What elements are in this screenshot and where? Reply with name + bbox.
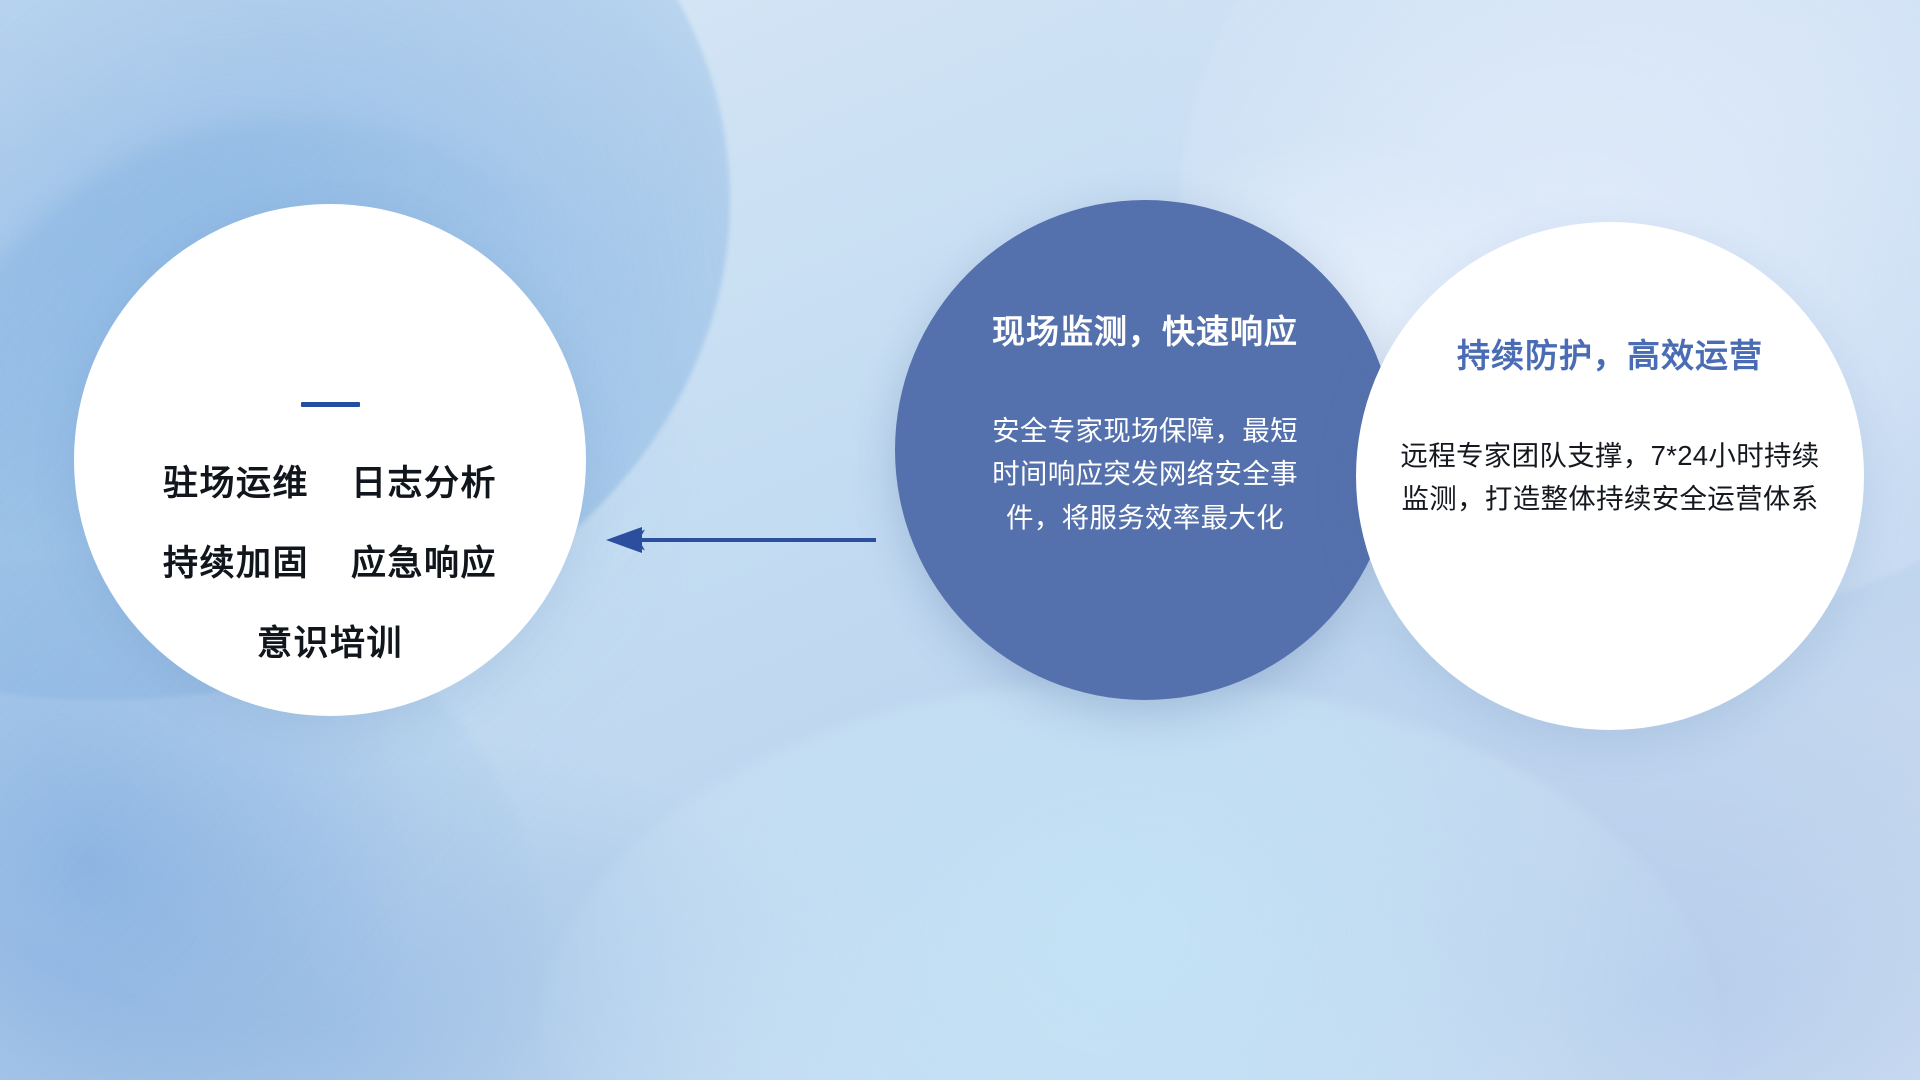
keyword-row: 驻场运维 日志分析 bbox=[163, 455, 497, 506]
keywords-circle-content: 驻场运维 日志分析 持续加固 应急响应 意识培训 bbox=[74, 204, 586, 716]
continuous-protection-body: 远程专家团队支撑，7*24小时持续监测，打造整体持续安全运营体系 bbox=[1400, 434, 1820, 521]
short-rule-icon bbox=[301, 402, 360, 407]
keyword-item: 持续加固 bbox=[163, 535, 309, 586]
keyword-list: 驻场运维 日志分析 持续加固 应急响应 意识培训 bbox=[163, 455, 497, 666]
continuous-protection-title: 持续防护，高效运营 bbox=[1457, 329, 1763, 377]
onsite-monitoring-content: 现场监测，快速响应 安全专家现场保障，最短时间响应突发网络安全事件，将服务效率最… bbox=[895, 200, 1395, 700]
continuous-protection-content: 持续防护，高效运营 远程专家团队支撑，7*24小时持续监测，打造整体持续安全运营… bbox=[1356, 222, 1864, 730]
flow-arrow-left-icon bbox=[598, 512, 878, 568]
onsite-monitoring-title: 现场监测，快速响应 bbox=[992, 305, 1298, 353]
keyword-row: 意识培训 bbox=[257, 615, 403, 666]
keyword-row: 持续加固 应急响应 bbox=[163, 535, 497, 586]
keyword-item: 驻场运维 bbox=[163, 455, 309, 506]
slide-canvas: 驻场运维 日志分析 持续加固 应急响应 意识培训 现场监测，快速响应 安全专家现… bbox=[0, 0, 1920, 1080]
keywords-circle: 驻场运维 日志分析 持续加固 应急响应 意识培训 bbox=[74, 204, 586, 716]
background-blob-bottom bbox=[540, 680, 1720, 1080]
onsite-monitoring-body: 安全专家现场保障，最短时间响应突发网络安全事件，将服务效率最大化 bbox=[986, 409, 1304, 539]
keyword-item: 日志分析 bbox=[351, 455, 497, 506]
keyword-item: 应急响应 bbox=[351, 535, 497, 586]
continuous-protection-circle: 持续防护，高效运营 远程专家团队支撑，7*24小时持续监测，打造整体持续安全运营… bbox=[1356, 222, 1864, 730]
onsite-monitoring-circle: 现场监测，快速响应 安全专家现场保障，最短时间响应突发网络安全事件，将服务效率最… bbox=[895, 200, 1395, 700]
keyword-item: 意识培训 bbox=[257, 615, 403, 666]
